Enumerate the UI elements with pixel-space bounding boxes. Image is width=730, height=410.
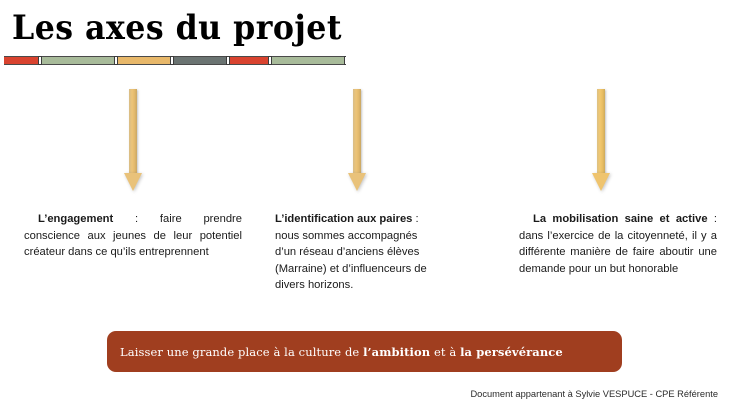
arrow-mobilisation bbox=[588, 89, 614, 199]
rule-segment bbox=[174, 56, 226, 65]
footer-attribution: Document appartenant à Sylvie VESPUCE - … bbox=[470, 389, 718, 399]
arrow-shaft bbox=[353, 89, 361, 175]
column-mobilisation: La mobilisation saine et active : dans l… bbox=[519, 211, 717, 277]
column-engagement-separator: : bbox=[113, 213, 160, 225]
arrow-engagement bbox=[120, 89, 146, 199]
column-identification-separator: : bbox=[412, 213, 418, 225]
arrow-identification bbox=[344, 89, 370, 199]
rule-segment bbox=[230, 56, 268, 65]
title-decorative-rule bbox=[4, 56, 346, 65]
arrow-head-icon bbox=[124, 173, 142, 191]
rule-segment bbox=[4, 56, 38, 65]
rule-segment bbox=[42, 56, 114, 65]
column-identification-body: nous sommes accompagnés d’un réseau d’an… bbox=[275, 230, 427, 292]
arrow-head-icon bbox=[592, 173, 610, 191]
column-mobilisation-separator: : bbox=[708, 213, 717, 225]
arrow-shaft bbox=[597, 89, 605, 175]
column-mobilisation-body: dans l’exercice de la citoyenneté, il y … bbox=[519, 230, 717, 275]
banner-bold-perseverance: la persévérance bbox=[460, 345, 563, 359]
banner-bold-ambition: l’ambition bbox=[363, 345, 430, 359]
banner-prefix: Laisser une grande place à la culture de bbox=[120, 345, 363, 359]
highlight-banner-text: Laisser une grande place à la culture de… bbox=[107, 345, 563, 359]
rule-tick bbox=[344, 56, 346, 65]
column-mobilisation-heading: La mobilisation saine et active bbox=[533, 213, 708, 225]
arrow-head-icon bbox=[348, 173, 366, 191]
column-engagement: L’engagement : faire prendre conscience … bbox=[24, 211, 242, 261]
column-engagement-heading: L’engagement bbox=[38, 213, 113, 225]
page-title: Les axes du projet bbox=[12, 8, 342, 48]
slide-canvas: Les axes du projet L’engagement : faire … bbox=[0, 0, 730, 410]
rule-segment bbox=[272, 56, 344, 65]
arrow-shaft bbox=[129, 89, 137, 175]
banner-middle: et à bbox=[430, 345, 460, 359]
rule-segment bbox=[118, 56, 170, 65]
column-identification: L’identification aux paires : nous somme… bbox=[275, 211, 438, 294]
column-identification-heading: L’identification aux paires bbox=[275, 213, 412, 225]
highlight-banner: Laisser une grande place à la culture de… bbox=[107, 331, 622, 372]
